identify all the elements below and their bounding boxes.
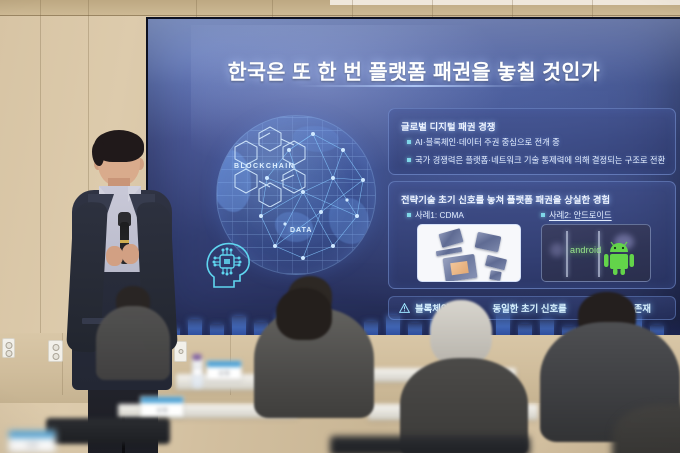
- bullet-marker: [407, 140, 411, 144]
- wall-seam: [40, 0, 41, 340]
- chip-shape-large: [442, 254, 477, 282]
- case1-text: 사례1: CDMA: [415, 210, 464, 220]
- title-underline: [298, 85, 530, 87]
- chip-shape: [438, 228, 463, 248]
- placard-text: 성 명: [207, 370, 241, 377]
- bottle-cap: [193, 354, 202, 360]
- android-wordmark: android: [570, 245, 601, 255]
- bullet-text: AI·블록체인·데이터 주권 중심으로 전개 중: [415, 137, 560, 147]
- chip-core: [450, 261, 469, 275]
- wall-seam: [432, 0, 433, 18]
- bullet-marker: [407, 213, 411, 217]
- wall-seam: [272, 0, 273, 18]
- water-bottle: [192, 358, 203, 388]
- bullet-marker: [541, 213, 545, 217]
- slide-title: 한국은 또 한 번 플랫폼 패권을 놓칠 것인가: [148, 55, 680, 85]
- wall-outlet[interactable]: [2, 338, 15, 358]
- audience-person: [96, 306, 170, 380]
- box1-title: 글로벌 디지털 패권 경쟁: [401, 119, 496, 133]
- box1-bullet: AI·블록체인·데이터 주권 중심으로 전개 중: [407, 137, 669, 147]
- chip-shape: [489, 270, 501, 281]
- audience-head: [430, 300, 492, 366]
- chip-shape: [485, 255, 507, 271]
- ceiling-strip: [330, 0, 680, 5]
- box2-title: 전략기술 초기 신호를 놓쳐 플랫폼 패권을 상실한 경험: [401, 192, 610, 206]
- name-placard: 성 명: [8, 430, 56, 453]
- box1-bullet: 국가 경쟁력은 플랫폼·네트워크 기술 통제력에 의해 결정되는 구조로 전환: [407, 155, 673, 165]
- chip-shape: [436, 247, 462, 256]
- case1-label: 사례1: CDMA: [407, 210, 464, 220]
- blockchain-globe-graphic: BLOCKCHAIN DATA: [198, 105, 388, 305]
- microphone-band: [120, 240, 129, 243]
- placard-text: 성 명: [9, 442, 55, 449]
- audience-head: [276, 288, 332, 340]
- presentation-room-photo: 한국은 또 한 번 플랫폼 패권을 놓칠 것인가: [0, 0, 680, 453]
- android-robot-icon: [604, 241, 634, 275]
- placard-text: 성 명: [141, 407, 183, 414]
- chip-shape: [475, 232, 502, 253]
- name-placard: 성 명: [140, 396, 184, 417]
- name-placard: 성 명: [206, 360, 242, 380]
- speaker-hand-left: [106, 246, 123, 266]
- light-blob: [550, 243, 564, 257]
- case2-label: 사례2: 안드로이드: [541, 210, 612, 220]
- wall-seam: [512, 0, 513, 18]
- case2-text: 사례2: 안드로이드: [549, 210, 612, 220]
- speaker-hair: [94, 130, 144, 162]
- cdma-chip-image: [417, 224, 521, 282]
- blockchain-label: BLOCKCHAIN: [234, 163, 295, 170]
- speaker-hand-right: [122, 244, 139, 264]
- wall-seam: [592, 0, 593, 18]
- slide-box-past-cases: 전략기술 초기 신호를 놓쳐 플랫폼 패권을 상실한 경험 사례1: CDMA …: [388, 181, 676, 289]
- bottle-label: [193, 368, 202, 376]
- android-image: android: [541, 224, 651, 282]
- chair-back: [330, 436, 530, 453]
- wall-seam: [352, 0, 353, 18]
- wall-outlet[interactable]: [48, 340, 63, 362]
- data-label: DATA: [290, 227, 312, 234]
- chair-back: [46, 418, 170, 444]
- light-bar: [566, 231, 568, 277]
- bullet-marker: [407, 158, 411, 162]
- slide-box-global-competition: 글로벌 디지털 패권 경쟁 AI·블록체인·데이터 주권 중심으로 전개 중 국…: [388, 108, 676, 175]
- presentation-screen: 한국은 또 한 번 플랫폼 패권을 놓칠 것인가: [146, 17, 680, 335]
- ai-brain-chip-icon: [202, 237, 258, 293]
- bullet-text: 국가 경쟁력은 플랫폼·네트워크 기술 통제력에 의해 결정되는 구조로 전환: [415, 155, 665, 165]
